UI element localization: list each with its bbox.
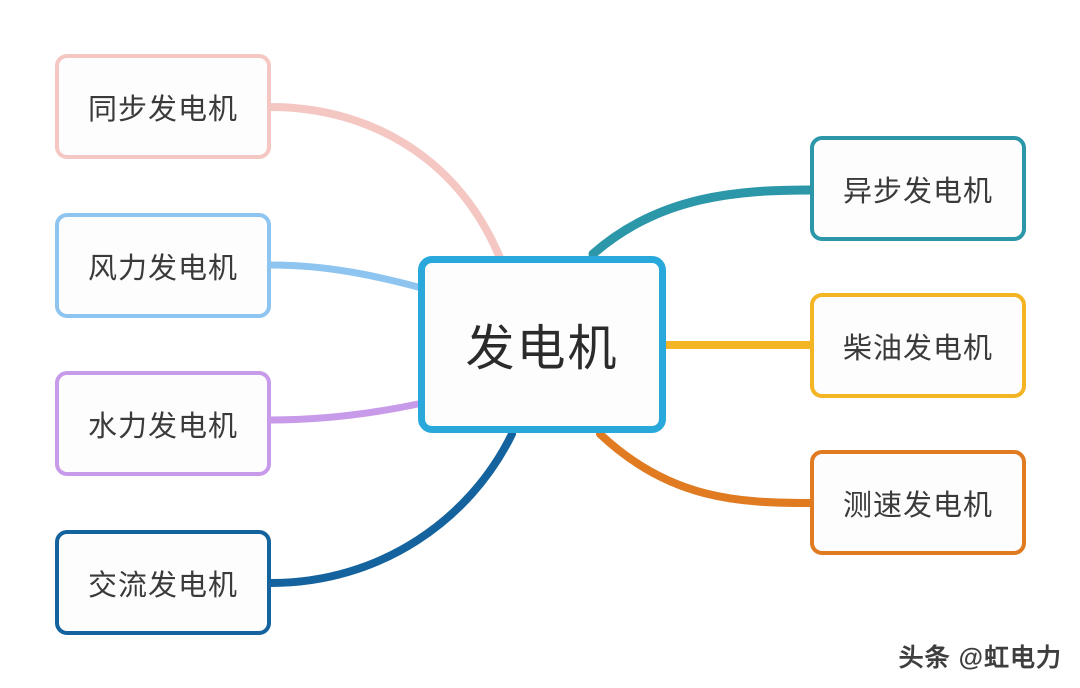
node-wind[interactable]: 风力发电机 [55, 213, 271, 318]
center-node-center[interactable]: 发电机 [418, 256, 666, 433]
edge-hydro [271, 404, 418, 420]
node-label: 风力发电机 [88, 245, 238, 287]
edge-synchronous [271, 107, 500, 258]
edge-asynchronous [593, 190, 810, 254]
node-label: 柴油发电机 [843, 325, 993, 367]
node-diesel[interactable]: 柴油发电机 [810, 293, 1026, 398]
node-synchronous[interactable]: 同步发电机 [55, 54, 271, 159]
node-hydro[interactable]: 水力发电机 [55, 371, 271, 476]
node-label: 交流发电机 [88, 562, 238, 604]
node-asynchronous[interactable]: 异步发电机 [810, 136, 1026, 241]
node-ac[interactable]: 交流发电机 [55, 530, 271, 635]
edge-ac [271, 434, 512, 583]
node-label: 发电机 [465, 309, 618, 380]
node-label: 测速发电机 [843, 482, 993, 524]
edge-wind [271, 265, 418, 287]
edge-tacho [600, 434, 810, 503]
mindmap-canvas: 发电机同步发电机风力发电机水力发电机交流发电机异步发电机柴油发电机测速发电机 头… [0, 0, 1080, 688]
watermark-text: 头条 @虹电力 [899, 638, 1062, 674]
node-label: 水力发电机 [88, 403, 238, 445]
node-label: 同步发电机 [88, 86, 238, 128]
node-tacho[interactable]: 测速发电机 [810, 450, 1026, 555]
node-label: 异步发电机 [843, 168, 993, 210]
